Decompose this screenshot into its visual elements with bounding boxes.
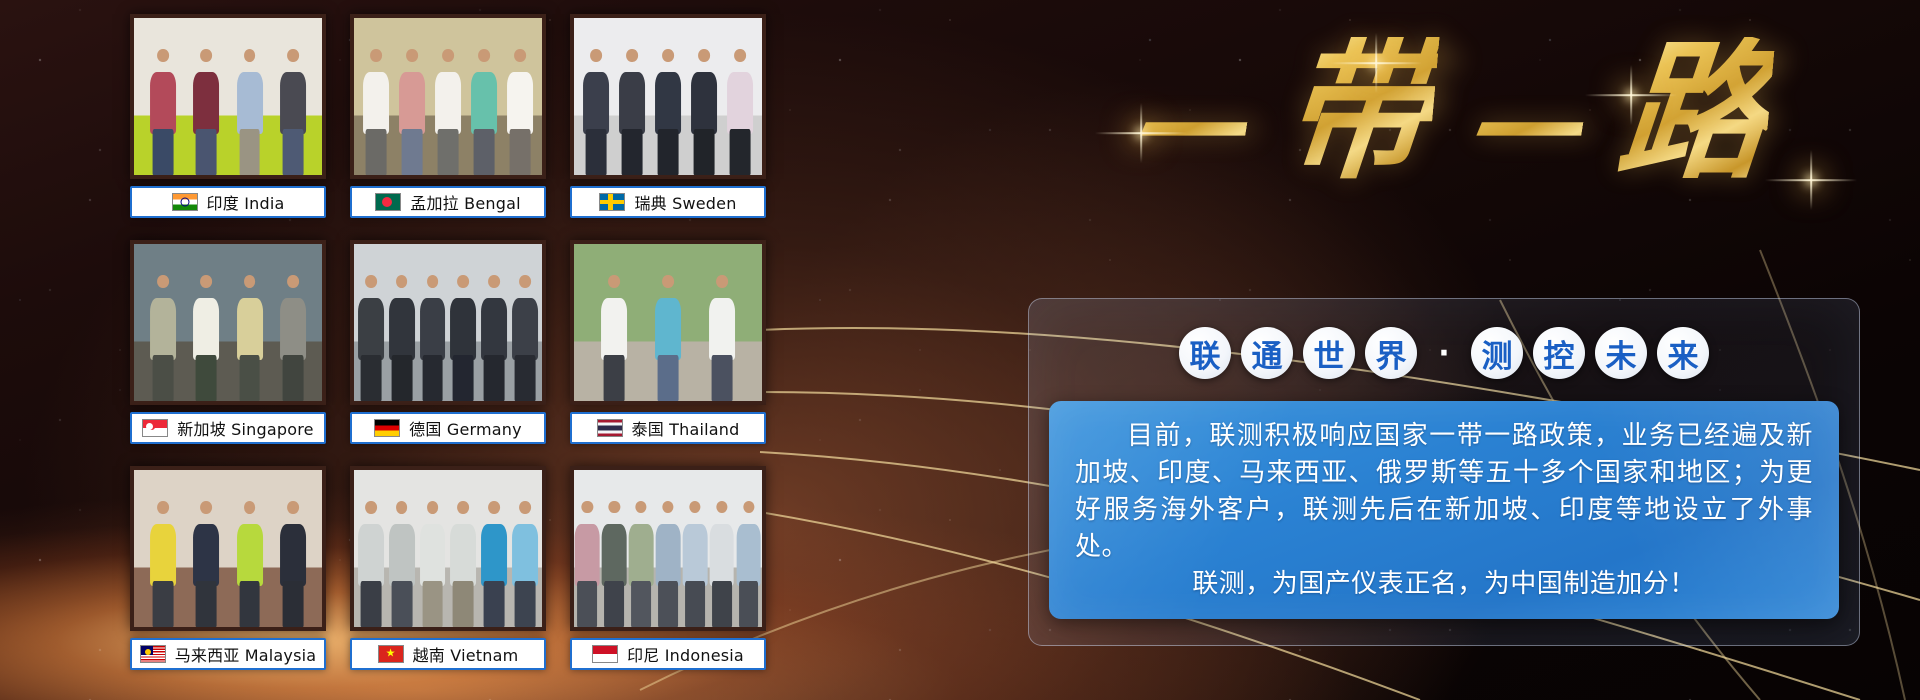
photo-people xyxy=(354,46,542,175)
photo-frame xyxy=(130,240,326,405)
photo-frame xyxy=(570,466,766,631)
slogan-chip: 测 xyxy=(1471,327,1523,379)
figure-body xyxy=(193,524,219,586)
slogan-chip: 控 xyxy=(1533,327,1585,379)
figure-body xyxy=(709,524,734,586)
figure-head xyxy=(626,49,638,62)
photo-figure xyxy=(654,46,682,175)
slogan-row: 联 通 世 界 · 测 控 未 来 xyxy=(1029,327,1859,379)
figure-head xyxy=(370,49,382,62)
photo-image-thailand xyxy=(574,244,762,401)
slogan-chip: 世 xyxy=(1303,327,1355,379)
figure-legs xyxy=(366,129,387,175)
photo-caption: 德国 Germany xyxy=(350,412,546,444)
photo-image-singapore xyxy=(134,244,322,401)
figure-head xyxy=(689,501,700,514)
figure-legs xyxy=(196,355,217,401)
figure-body xyxy=(736,524,761,586)
photo-caption: 印尼 Indonesia xyxy=(570,638,766,670)
photo-figure xyxy=(449,498,477,627)
figure-head xyxy=(698,49,710,62)
figure-head xyxy=(200,501,212,514)
photo-figure xyxy=(511,272,539,401)
photo-figure xyxy=(192,498,220,627)
photo-figure xyxy=(470,46,498,175)
photo-figure xyxy=(708,498,735,627)
figure-body xyxy=(512,524,538,586)
photo-figure xyxy=(655,498,682,627)
figure-head xyxy=(244,275,256,288)
photo-figure xyxy=(708,272,736,401)
figure-head xyxy=(590,49,602,62)
figure-body xyxy=(399,72,425,134)
figure-legs xyxy=(438,129,459,175)
figure-legs xyxy=(484,355,505,401)
figure-body xyxy=(450,298,476,360)
figure-body xyxy=(358,298,384,360)
figure-legs xyxy=(153,355,174,401)
photo-figure xyxy=(654,272,682,401)
caption-label: 德国 Germany xyxy=(409,416,522,440)
photo-image-malaysia xyxy=(134,470,322,627)
figure-head xyxy=(457,501,469,514)
flag-vietnam-icon xyxy=(378,645,404,663)
figure-legs xyxy=(391,581,412,627)
caption-label: 马来西亚 Malaysia xyxy=(175,642,317,666)
flag-singapore-icon xyxy=(142,419,168,437)
photo-image-germany xyxy=(354,244,542,401)
figure-legs xyxy=(712,581,732,627)
calligraphy-title: 一 带 一 路 xyxy=(1020,4,1880,219)
photo-frame xyxy=(350,466,546,631)
photo-figure xyxy=(398,46,426,175)
photo-figure xyxy=(388,498,416,627)
figure-head xyxy=(743,501,754,514)
photo-image-vietnam xyxy=(354,470,542,627)
flag-sweden-icon xyxy=(599,193,625,211)
figure-body xyxy=(655,298,681,360)
photo-figure xyxy=(236,46,264,175)
figure-body xyxy=(150,72,176,134)
photo-frame xyxy=(130,14,326,179)
figure-head xyxy=(200,49,212,62)
slogan-chip: 界 xyxy=(1365,327,1417,379)
figure-legs xyxy=(658,581,678,627)
photo-people xyxy=(574,498,762,627)
caption-label: 孟加拉 Bengal xyxy=(410,190,520,214)
photo-image-bengal xyxy=(354,18,542,175)
photo-figure xyxy=(279,498,307,627)
figure-head xyxy=(519,501,531,514)
photo-figure xyxy=(480,498,508,627)
figure-body xyxy=(512,298,538,360)
photo-people xyxy=(134,46,322,175)
figure-legs xyxy=(712,355,733,401)
photo-figure xyxy=(449,272,477,401)
photo-caption: 瑞典 Sweden xyxy=(570,186,766,218)
photo-figure xyxy=(480,272,508,401)
photo-card[interactable]: 德国 Germany xyxy=(350,240,546,456)
figure-head xyxy=(662,275,674,288)
figure-head xyxy=(636,501,647,514)
figure-body xyxy=(150,298,176,360)
photo-figure xyxy=(418,272,446,401)
flag-malaysia-icon xyxy=(140,645,166,663)
photo-figure xyxy=(618,46,646,175)
photo-image-sweden xyxy=(574,18,762,175)
caption-label: 越南 Vietnam xyxy=(413,642,519,666)
figure-body xyxy=(237,72,263,134)
photo-figure xyxy=(192,46,220,175)
figure-body xyxy=(727,72,753,134)
figure-head xyxy=(157,49,169,62)
photo-figure xyxy=(735,498,762,627)
photo-figure xyxy=(574,498,601,627)
photo-caption: 孟加拉 Bengal xyxy=(350,186,546,218)
photo-card[interactable]: 泰国 Thailand xyxy=(570,240,766,456)
figure-body xyxy=(481,298,507,360)
figure-legs xyxy=(515,581,536,627)
figure-head xyxy=(582,501,593,514)
figure-legs xyxy=(586,129,607,175)
photo-figure xyxy=(418,498,446,627)
figure-legs xyxy=(730,129,751,175)
figure-body xyxy=(683,524,708,586)
figure-head xyxy=(716,275,728,288)
figure-head xyxy=(200,275,212,288)
slogan-separator-dot: · xyxy=(1427,336,1461,370)
figure-body xyxy=(575,524,600,586)
photo-caption: 印度 India xyxy=(130,186,326,218)
photo-figure xyxy=(388,272,416,401)
photo-caption: 马来西亚 Malaysia xyxy=(130,638,326,670)
figure-body xyxy=(471,72,497,134)
figure-legs xyxy=(453,355,474,401)
figure-legs xyxy=(239,581,260,627)
figure-head xyxy=(457,275,469,288)
photo-figure xyxy=(506,46,534,175)
figure-legs xyxy=(422,581,443,627)
figure-head xyxy=(365,501,377,514)
figure-head xyxy=(157,275,169,288)
figure-legs xyxy=(604,355,625,401)
figure-head xyxy=(287,501,299,514)
figure-legs xyxy=(282,129,303,175)
slogan-chip: 来 xyxy=(1657,327,1709,379)
figure-body xyxy=(363,72,389,134)
calligraphy-char-3: 一 xyxy=(1454,75,1591,193)
photo-figure xyxy=(279,272,307,401)
photo-caption: 越南 Vietnam xyxy=(350,638,546,670)
figure-body xyxy=(709,298,735,360)
photo-caption: 泰国 Thailand xyxy=(570,412,766,444)
photo-figure xyxy=(236,498,264,627)
photo-figure xyxy=(726,46,754,175)
figure-legs xyxy=(631,581,651,627)
figure-body xyxy=(193,72,219,134)
figure-head xyxy=(244,49,256,62)
photo-people xyxy=(354,272,542,401)
photo-figure xyxy=(628,498,655,627)
figure-legs xyxy=(474,129,495,175)
banner-stage: 印度 India 孟加拉 Bengal xyxy=(0,0,1920,700)
figure-legs xyxy=(739,581,759,627)
photo-figure xyxy=(434,46,462,175)
photo-figure xyxy=(681,498,708,627)
figure-head xyxy=(608,275,620,288)
figure-head xyxy=(716,501,727,514)
figure-head xyxy=(427,501,439,514)
caption-label: 瑞典 Sweden xyxy=(634,190,736,214)
figure-head xyxy=(287,275,299,288)
photo-figure xyxy=(149,46,177,175)
figure-body xyxy=(420,524,446,586)
sparkle-icon xyxy=(1630,94,1632,96)
figure-body xyxy=(450,524,476,586)
photo-people xyxy=(134,498,322,627)
photo-card[interactable]: 印度 India xyxy=(130,14,326,230)
figure-body xyxy=(420,298,446,360)
figure-body xyxy=(507,72,533,134)
photo-figure xyxy=(236,272,264,401)
figure-body xyxy=(691,72,717,134)
figure-body xyxy=(655,72,681,134)
photo-frame xyxy=(130,466,326,631)
figure-legs xyxy=(604,581,624,627)
figure-head xyxy=(365,275,377,288)
description-box: 目前，联测积极响应国家一带一路政策，业务已经遍及新加坡、印度、马来西亚、俄罗斯等… xyxy=(1049,401,1839,619)
photo-frame xyxy=(570,240,766,405)
photo-card[interactable]: 马来西亚 Malaysia xyxy=(130,466,326,682)
figure-legs xyxy=(402,129,423,175)
figure-legs xyxy=(484,581,505,627)
photo-figure xyxy=(601,498,628,627)
figure-head xyxy=(662,49,674,62)
figure-legs xyxy=(153,581,174,627)
photo-card[interactable]: 越南 Vietnam xyxy=(350,466,546,682)
caption-label: 新加坡 Singapore xyxy=(177,416,313,440)
photo-frame xyxy=(350,14,546,179)
photo-card[interactable]: 孟加拉 Bengal xyxy=(350,14,546,230)
photo-figure xyxy=(511,498,539,627)
figure-head xyxy=(488,501,500,514)
caption-label: 印尼 Indonesia xyxy=(627,642,744,666)
figure-body xyxy=(583,72,609,134)
figure-body xyxy=(358,524,384,586)
figure-body xyxy=(280,524,306,586)
figure-legs xyxy=(391,355,412,401)
figure-head xyxy=(609,501,620,514)
photo-image-indonesia xyxy=(574,470,762,627)
figure-legs xyxy=(196,129,217,175)
photo-frame xyxy=(350,240,546,405)
figure-body xyxy=(280,72,306,134)
slogan-chip: 通 xyxy=(1241,327,1293,379)
figure-legs xyxy=(685,581,705,627)
figure-legs xyxy=(282,581,303,627)
figure-body xyxy=(619,72,645,134)
photo-figure xyxy=(690,46,718,175)
flag-india-icon xyxy=(172,193,198,211)
figure-legs xyxy=(453,581,474,627)
figure-head xyxy=(734,49,746,62)
photo-people xyxy=(354,498,542,627)
photo-figure xyxy=(149,272,177,401)
figure-legs xyxy=(658,355,679,401)
photo-figure xyxy=(357,498,385,627)
flag-germany-icon xyxy=(374,419,400,437)
figure-head xyxy=(406,49,418,62)
caption-label: 印度 India xyxy=(207,190,285,214)
photo-frame xyxy=(570,14,766,179)
figure-body xyxy=(237,298,263,360)
figure-body xyxy=(237,524,263,586)
photo-figure xyxy=(362,46,390,175)
figure-body xyxy=(193,298,219,360)
figure-body xyxy=(481,524,507,586)
figure-legs xyxy=(153,129,174,175)
photo-card[interactable]: 新加坡 Singapore xyxy=(130,240,326,456)
figure-head xyxy=(478,49,490,62)
sparkle-icon xyxy=(1140,132,1142,134)
figure-legs xyxy=(282,355,303,401)
figure-legs xyxy=(239,355,260,401)
figure-head xyxy=(662,501,673,514)
figure-body xyxy=(602,524,627,586)
photo-image-india xyxy=(134,18,322,175)
figure-head xyxy=(442,49,454,62)
flag-indonesia-icon xyxy=(592,645,618,663)
figure-legs xyxy=(510,129,531,175)
photo-figure xyxy=(600,272,628,401)
description-paragraph-1: 目前，联测积极响应国家一带一路政策，业务已经遍及新加坡、印度、马来西亚、俄罗斯等… xyxy=(1075,418,1813,566)
figure-legs xyxy=(622,129,643,175)
photo-figure xyxy=(192,272,220,401)
calligraphy-char-4: 路 xyxy=(1612,37,1775,187)
slogan-chip: 联 xyxy=(1179,327,1231,379)
info-panel: 联 通 世 界 · 测 控 未 来 目前，联测积极响应国家一带一路政策，业务已经… xyxy=(1028,298,1860,646)
figure-legs xyxy=(422,355,443,401)
figure-head xyxy=(396,501,408,514)
figure-head xyxy=(427,275,439,288)
figure-head xyxy=(244,501,256,514)
figure-head xyxy=(396,275,408,288)
figure-head xyxy=(157,501,169,514)
figure-body xyxy=(656,524,681,586)
photo-figure xyxy=(357,272,385,401)
figure-body xyxy=(435,72,461,134)
figure-head xyxy=(287,49,299,62)
photo-card[interactable]: 瑞典 Sweden xyxy=(570,14,766,230)
figure-legs xyxy=(239,129,260,175)
photo-caption: 新加坡 Singapore xyxy=(130,412,326,444)
photo-figure xyxy=(582,46,610,175)
photo-people xyxy=(134,272,322,401)
figure-head xyxy=(519,275,531,288)
figure-head xyxy=(514,49,526,62)
figure-legs xyxy=(694,129,715,175)
caption-label: 泰国 Thailand xyxy=(632,416,740,440)
flag-bangladesh-icon xyxy=(375,193,401,211)
country-photo-grid: 印度 India 孟加拉 Bengal xyxy=(130,14,780,686)
figure-head xyxy=(488,275,500,288)
figure-body xyxy=(389,524,415,586)
figure-legs xyxy=(360,581,381,627)
figure-body xyxy=(629,524,654,586)
photo-figure xyxy=(149,498,177,627)
slogan-chip: 未 xyxy=(1595,327,1647,379)
photo-people xyxy=(574,272,762,401)
figure-legs xyxy=(196,581,217,627)
figure-body xyxy=(150,524,176,586)
calligraphy-char-2: 带 xyxy=(1276,37,1439,187)
figure-body xyxy=(389,298,415,360)
photo-people xyxy=(574,46,762,175)
figure-legs xyxy=(577,581,597,627)
figure-body xyxy=(280,298,306,360)
photo-figure xyxy=(279,46,307,175)
figure-legs xyxy=(658,129,679,175)
sparkle-icon xyxy=(1810,179,1812,181)
figure-legs xyxy=(515,355,536,401)
sparkle-icon xyxy=(1375,62,1377,64)
flag-thailand-icon xyxy=(597,419,623,437)
photo-card[interactable]: 印尼 Indonesia xyxy=(570,466,766,682)
figure-body xyxy=(601,298,627,360)
description-paragraph-2: 联测，为国产仪表正名，为中国制造加分！ xyxy=(1075,566,1813,603)
figure-legs xyxy=(360,355,381,401)
